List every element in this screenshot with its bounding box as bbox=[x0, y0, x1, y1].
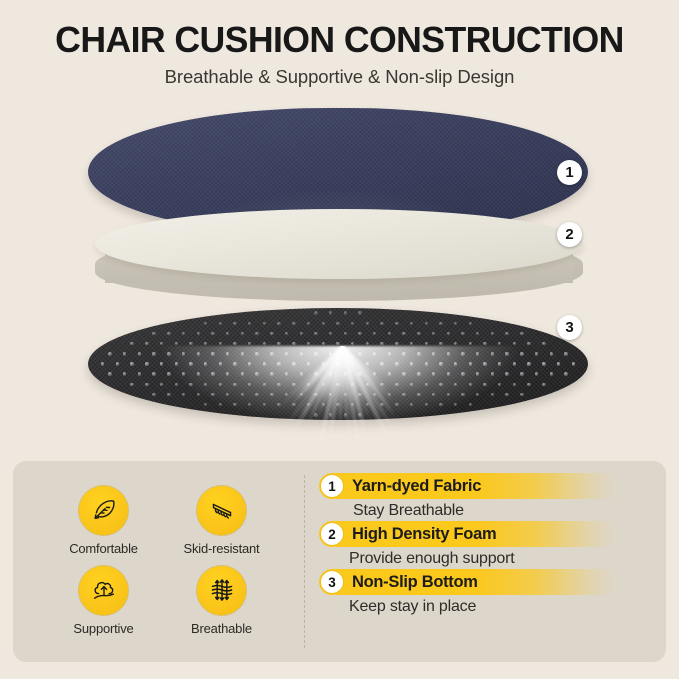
silicone-dot bbox=[542, 342, 545, 345]
silicone-dot bbox=[439, 322, 442, 325]
silicone-dot bbox=[366, 342, 369, 345]
silicone-dot bbox=[388, 332, 391, 335]
feature-label: Breathable bbox=[163, 621, 281, 636]
silicone-dot bbox=[520, 332, 523, 335]
pill-number: 2 bbox=[321, 523, 343, 545]
silicone-dot bbox=[483, 342, 486, 345]
silicone-dot bbox=[292, 322, 295, 325]
foam-top-surface bbox=[95, 209, 583, 279]
numbered-feature-list: 1 Yarn-dyed Fabric Stay Breathable 2 Hig… bbox=[305, 461, 666, 662]
cloud-up-arrow-icon bbox=[78, 565, 129, 616]
silicone-dot bbox=[197, 332, 200, 335]
silicone-dot bbox=[233, 322, 236, 325]
silicone-dot bbox=[219, 322, 222, 325]
silicone-dot bbox=[307, 322, 310, 325]
silicone-dot bbox=[182, 332, 185, 335]
layer-badge-3: 3 bbox=[557, 315, 582, 340]
silicone-dot bbox=[108, 352, 111, 355]
silicone-dot bbox=[130, 342, 133, 345]
silicone-dot bbox=[145, 342, 148, 345]
silicone-dot bbox=[108, 372, 111, 375]
silicone-dot bbox=[116, 362, 119, 365]
silicone-dot bbox=[358, 332, 361, 335]
silicone-dot bbox=[439, 342, 442, 345]
pill-subtitle: Keep stay in place bbox=[349, 598, 666, 616]
silicone-dot bbox=[425, 342, 428, 345]
silicone-dot bbox=[248, 342, 251, 345]
silicone-dot bbox=[211, 332, 214, 335]
silicone-dot bbox=[241, 332, 244, 335]
feature-skid-resistant: Skid-resistant bbox=[163, 485, 281, 556]
pill-title: Yarn-dyed Fabric bbox=[352, 477, 481, 496]
silicone-dot bbox=[505, 332, 508, 335]
silicone-dot bbox=[454, 342, 457, 345]
feature-pill: 1 Yarn-dyed Fabric bbox=[319, 473, 619, 499]
silicone-dot bbox=[380, 342, 383, 345]
pill-subtitle: Stay Breathable bbox=[353, 502, 666, 520]
silicone-dot bbox=[527, 342, 530, 345]
silicone-dot bbox=[572, 362, 575, 365]
feature-pill: 3 Non-Slip Bottom bbox=[319, 569, 619, 595]
feature-panel: Comfortable bbox=[13, 461, 666, 662]
silicone-dot bbox=[277, 342, 280, 345]
header: CHAIR CUSHION CONSTRUCTION Breathable & … bbox=[0, 0, 679, 88]
silicone-dot bbox=[314, 311, 317, 314]
silicone-dot bbox=[270, 332, 273, 335]
pill-title: Non-Slip Bottom bbox=[352, 573, 478, 592]
silicone-dot bbox=[300, 332, 303, 335]
silicone-dot bbox=[550, 372, 553, 375]
silicone-dot bbox=[314, 332, 317, 335]
silicone-dot bbox=[219, 342, 222, 345]
feature-pill: 2 High Density Foam bbox=[319, 521, 619, 547]
silicone-dot bbox=[395, 322, 398, 325]
silicone-dot bbox=[432, 332, 435, 335]
silicone-dot bbox=[344, 332, 347, 335]
feature-label: Supportive bbox=[45, 621, 163, 636]
feature-supportive: Supportive bbox=[45, 565, 163, 636]
light-rays bbox=[140, 346, 540, 461]
silicone-dot bbox=[513, 342, 516, 345]
silicone-dot bbox=[351, 322, 354, 325]
silicone-dot bbox=[329, 311, 332, 314]
silicone-dot bbox=[380, 322, 383, 325]
silicone-dot bbox=[373, 332, 376, 335]
silicone-dot bbox=[226, 332, 229, 335]
silicone-dot bbox=[263, 342, 266, 345]
silicone-dot bbox=[263, 322, 266, 325]
silicone-dot bbox=[204, 342, 207, 345]
pill-number: 3 bbox=[321, 571, 343, 593]
silicone-dot bbox=[564, 372, 567, 375]
silicone-dot bbox=[123, 352, 126, 355]
feature-icon-grid: Comfortable bbox=[13, 461, 304, 662]
silicone-dot bbox=[417, 332, 420, 335]
feature-comfortable: Comfortable bbox=[45, 485, 163, 556]
woven-mesh-icon bbox=[196, 565, 247, 616]
silicone-dot bbox=[167, 332, 170, 335]
list-item: 3 Non-Slip Bottom Keep stay in place bbox=[319, 569, 666, 616]
silicone-dot bbox=[491, 332, 494, 335]
silicone-dot bbox=[101, 362, 104, 365]
silicone-dot bbox=[402, 332, 405, 335]
silicone-dot bbox=[123, 372, 126, 375]
silicone-dot bbox=[344, 311, 347, 314]
silicone-dot bbox=[498, 342, 501, 345]
silicone-dot bbox=[322, 322, 325, 325]
silicone-dot bbox=[285, 332, 288, 335]
silicone-dot bbox=[175, 342, 178, 345]
silicone-dot bbox=[351, 342, 354, 345]
silicone-dot bbox=[550, 352, 553, 355]
silicone-dot bbox=[469, 322, 472, 325]
layer-badge-1: 1 bbox=[557, 160, 582, 185]
silicone-dot bbox=[425, 322, 428, 325]
pill-number: 1 bbox=[321, 475, 343, 497]
silicone-dot bbox=[557, 362, 560, 365]
silicone-dot bbox=[410, 342, 413, 345]
pill-title: High Density Foam bbox=[352, 525, 496, 544]
silicone-dot bbox=[366, 322, 369, 325]
page-title: CHAIR CUSHION CONSTRUCTION bbox=[3, 21, 675, 59]
silicone-dot bbox=[329, 332, 332, 335]
silicone-dot bbox=[410, 322, 413, 325]
silicone-dot bbox=[461, 332, 464, 335]
silicone-dot bbox=[395, 342, 398, 345]
pill-subtitle: Provide enough support bbox=[349, 550, 666, 568]
silicone-dot bbox=[160, 342, 163, 345]
silicone-dot bbox=[469, 342, 472, 345]
silicone-dot bbox=[336, 322, 339, 325]
silicone-dot bbox=[476, 332, 479, 335]
silicone-dot bbox=[358, 311, 361, 314]
silicone-dot bbox=[189, 342, 192, 345]
silicone-dot bbox=[336, 342, 339, 345]
silicone-dot bbox=[152, 332, 155, 335]
silicone-dot bbox=[204, 322, 207, 325]
silicone-dot bbox=[322, 342, 325, 345]
silicone-dot bbox=[292, 342, 295, 345]
feature-breathable: Breathable bbox=[163, 565, 281, 636]
silicone-dot bbox=[447, 332, 450, 335]
silicone-dot bbox=[454, 322, 457, 325]
silicone-dot bbox=[277, 322, 280, 325]
silicone-dot bbox=[233, 342, 236, 345]
list-item: 2 High Density Foam Provide enough suppo… bbox=[319, 521, 666, 568]
silicone-dot bbox=[255, 332, 258, 335]
silicone-dot bbox=[307, 342, 310, 345]
feature-label: Comfortable bbox=[45, 541, 163, 556]
silicone-dot bbox=[248, 322, 251, 325]
list-item: 1 Yarn-dyed Fabric Stay Breathable bbox=[319, 473, 666, 520]
silicone-dot bbox=[564, 352, 567, 355]
layer-badge-2: 2 bbox=[557, 222, 582, 247]
bristle-comb-icon bbox=[196, 485, 247, 536]
product-exploded-view: 1 2 3 bbox=[0, 96, 679, 456]
page-subtitle: Breathable & Supportive & Non-slip Desig… bbox=[0, 66, 679, 88]
feather-icon bbox=[78, 485, 129, 536]
feature-label: Skid-resistant bbox=[163, 541, 281, 556]
